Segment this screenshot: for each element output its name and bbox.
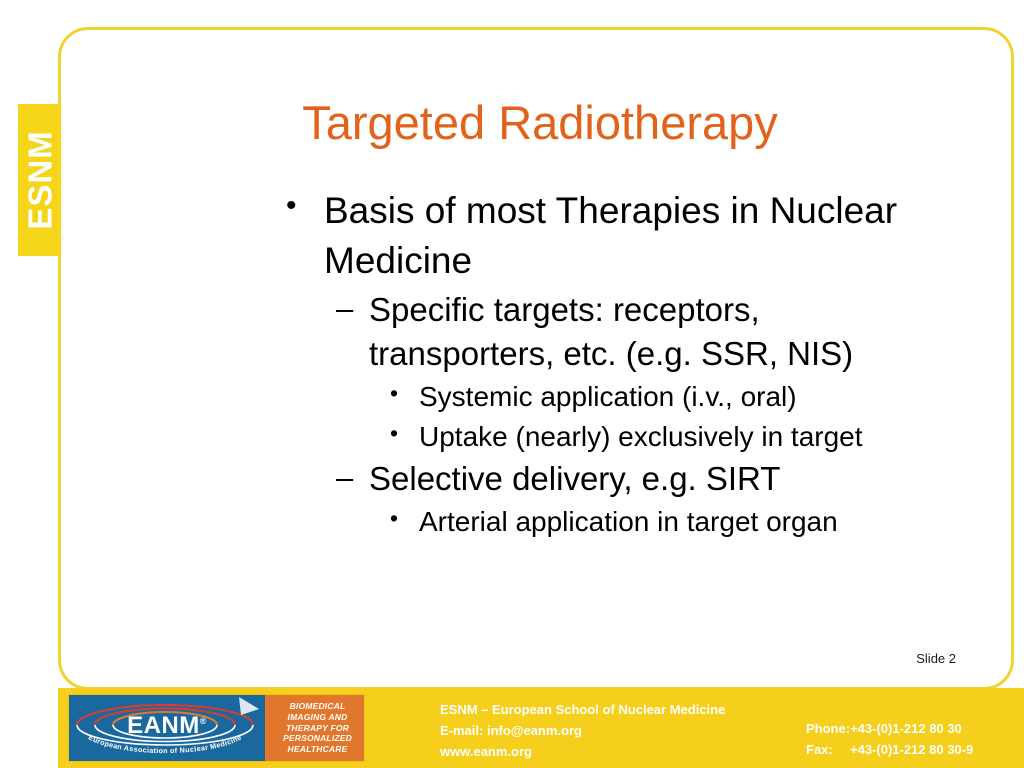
slide-footer: European Association of Nuclear Medicine… — [58, 688, 1024, 768]
footer-contact-left: ESNM – European School of Nuclear Medici… — [440, 699, 725, 762]
bullet-level3: • Arterial application in target organ — [0, 502, 1024, 542]
bullet-marker-icon: • — [286, 186, 324, 227]
bullet-level1: • Basis of most Therapies in Nuclear Med… — [0, 186, 1024, 286]
footer-fax-value: +43-(0)1-212 80 30-9 — [850, 739, 973, 760]
bullet-text: Selective delivery, e.g. SIRT — [369, 457, 780, 501]
tagline-line: THERAPY FOR — [283, 723, 352, 734]
footer-phone-label: Phone: — [806, 718, 850, 739]
slide-number: Slide 2 — [916, 652, 956, 665]
bullet-text: Specific targets: receptors, transporter… — [369, 288, 929, 376]
bullet-marker-icon: • — [390, 377, 419, 410]
eanm-logo-orange-panel: BIOMEDICAL IMAGING AND THERAPY FOR PERSO… — [265, 695, 364, 761]
footer-fax-label: Fax: — [806, 739, 850, 760]
bullet-text: Systemic application (i.v., oral) — [419, 377, 797, 417]
bullet-marker-icon: • — [390, 502, 419, 535]
tagline-line: HEALTHCARE — [283, 744, 352, 755]
eanm-tagline: BIOMEDICAL IMAGING AND THERAPY FOR PERSO… — [277, 701, 352, 755]
bullet-level3: • Systemic application (i.v., oral) — [0, 377, 1024, 417]
bullet-text: Basis of most Therapies in Nuclear Medic… — [324, 186, 974, 286]
eanm-acronym: EANM® — [69, 714, 265, 738]
bullet-level3: • Uptake (nearly) exclusively in target — [0, 417, 1024, 457]
slide-body: • Basis of most Therapies in Nuclear Med… — [0, 186, 1024, 542]
registered-mark-icon: ® — [200, 716, 207, 726]
dash-marker-icon: – — [336, 457, 369, 499]
eanm-logo: European Association of Nuclear Medicine… — [68, 694, 365, 762]
footer-fax-row: Fax: +43-(0)1-212 80 30-9 — [806, 739, 973, 760]
footer-phone-value: +43-(0)1-212 80 30 — [850, 718, 962, 739]
eanm-acronym-text: EANM — [127, 712, 200, 739]
bullet-text: Uptake (nearly) exclusively in target — [419, 417, 863, 457]
tagline-line: PERSONALIZED — [283, 733, 352, 744]
tagline-line: IMAGING AND — [283, 712, 352, 723]
slide-title: Targeted Radiotherapy — [100, 98, 980, 149]
footer-email[interactable]: E-mail: info@eanm.org — [440, 720, 725, 741]
bullet-marker-icon: • — [390, 417, 419, 450]
bullet-level2: – Specific targets: receptors, transport… — [0, 288, 1024, 376]
footer-phone-row: Phone: +43-(0)1-212 80 30 — [806, 718, 973, 739]
footer-contact-right: Phone: +43-(0)1-212 80 30 Fax: +43-(0)1-… — [806, 718, 973, 760]
footer-organization: ESNM – European School of Nuclear Medici… — [440, 699, 725, 720]
dash-marker-icon: – — [336, 288, 369, 330]
tagline-line: BIOMEDICAL — [283, 701, 352, 712]
footer-website[interactable]: www.eanm.org — [440, 741, 725, 762]
presentation-slide: ESNM Targeted Radiotherapy • Basis of mo… — [0, 0, 1024, 768]
bullet-text: Arterial application in target organ — [419, 502, 838, 542]
bullet-level2: – Selective delivery, e.g. SIRT — [0, 457, 1024, 501]
eanm-logo-blue-panel: European Association of Nuclear Medicine… — [69, 695, 265, 761]
